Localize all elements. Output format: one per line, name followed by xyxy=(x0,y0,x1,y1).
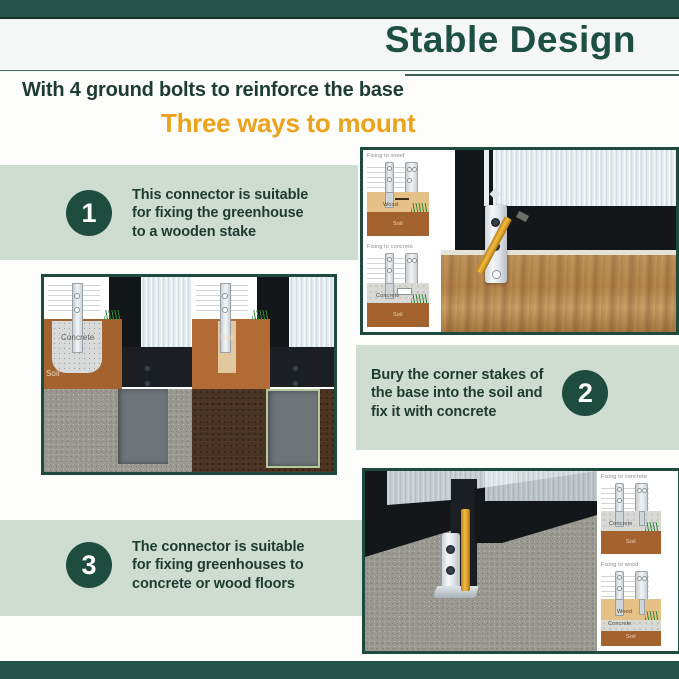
polycarbonate-panel xyxy=(288,277,334,349)
inset-title: Fixing to wood xyxy=(601,562,638,568)
fixing-arrow xyxy=(395,198,409,200)
frame-bolt xyxy=(292,380,299,387)
grass-icon xyxy=(411,203,427,212)
infographic-page: Stable Design With 4 ground bolts to rei… xyxy=(0,0,679,679)
grass-icon xyxy=(411,294,427,303)
layer-label-soil: Soil xyxy=(46,369,60,378)
frame-bolt xyxy=(144,365,151,372)
frame-edge-highlight xyxy=(484,150,489,206)
photo-panel-top: Fixing to wood Wood Soil Fixing to co xyxy=(360,147,679,335)
step-2: Bury the corner stakes of the base into … xyxy=(371,366,608,421)
step-text-3: The connector is suitable for fixing gre… xyxy=(132,538,304,593)
bolt-nut-upper xyxy=(446,545,455,554)
bracket-hole-glyph xyxy=(617,586,622,591)
metal-bracket xyxy=(442,533,460,589)
polycarbonate-panel xyxy=(140,277,192,349)
bracket-hole-glyph xyxy=(387,177,392,182)
photo-panel-bottom-scene: Fixing to concrete Concrete Soil Fixing … xyxy=(365,471,678,651)
bracket-hole-glyph xyxy=(642,488,647,493)
photo-panel-bottom: Fixing to concrete Concrete Soil Fixing … xyxy=(362,468,679,654)
bracket-hole-glyph xyxy=(617,575,622,580)
bracket-hole-glyph xyxy=(222,307,228,313)
layer-label-soil: Soil xyxy=(393,221,403,227)
inset-title: Fixing to concrete xyxy=(601,474,647,480)
buried-stake xyxy=(118,389,168,464)
scene-concrete-half: Concrete Soil xyxy=(44,277,192,472)
layer-label-soil: Soil xyxy=(626,539,636,545)
inset-fixing-to-wood: Fixing to wood Wood Concrete Soil xyxy=(597,559,672,651)
layer-label-concrete: Concrete xyxy=(376,293,400,299)
step-number-3: 3 xyxy=(66,542,112,588)
wooden-plank xyxy=(441,250,676,332)
step-number-2: 2 xyxy=(562,370,608,416)
inset-fixing-to-concrete: Fixing to concrete Concrete Soil xyxy=(363,241,441,332)
bracket-hole-glyph xyxy=(617,487,622,492)
step-1: 1 This connector is suitable for fixing … xyxy=(66,186,308,241)
inset-title: Fixing to wood xyxy=(367,153,404,159)
layer-label-concrete: Concrete xyxy=(61,333,94,342)
inset-fixing-to-wood: Fixing to wood Wood Soil xyxy=(363,150,441,241)
step-text-2: Bury the corner stakes of the base into … xyxy=(371,366,543,421)
bracket-hole-glyph xyxy=(74,307,80,313)
grass-icon xyxy=(645,611,659,620)
step-text-1: This connector is suitable for fixing th… xyxy=(132,186,308,241)
bracket-hole-glyph xyxy=(222,293,228,299)
step-number-1: 1 xyxy=(66,190,112,236)
scene-soil-half: Soil xyxy=(192,277,334,472)
grass-icon xyxy=(104,310,120,320)
plank-top-edge xyxy=(441,250,676,255)
inset-title: Fixing to concrete xyxy=(367,244,413,250)
bracket-hole-glyph xyxy=(407,178,412,183)
top-green-bar xyxy=(0,0,679,19)
bracket-hole-glyph xyxy=(412,258,417,263)
layer-label-wood: Wood xyxy=(383,202,398,208)
photo-panel-middle-scene: Concrete Soil Soil xyxy=(44,277,334,472)
bracket-hole-glyph xyxy=(387,166,392,171)
grass-icon xyxy=(645,522,659,531)
bracket-hole-glyph xyxy=(412,167,417,172)
page-tagline: Three ways to mount xyxy=(161,108,415,139)
page-subtitle: With 4 ground bolts to reinforce the bas… xyxy=(22,79,404,102)
frame-bolt xyxy=(144,380,151,387)
grass-icon xyxy=(252,310,268,320)
page-title: Stable Design xyxy=(385,21,636,58)
inset-fixing-to-concrete: Fixing to concrete Concrete Soil xyxy=(597,471,672,559)
buried-stake-highlight xyxy=(266,389,320,468)
layer-label-soil: Soil xyxy=(220,333,234,342)
bracket-hole-glyph xyxy=(387,268,392,273)
layer-label-concrete: Concrete xyxy=(608,621,632,627)
polycarbonate-panel-right xyxy=(485,471,597,501)
bracket-hole-glyph xyxy=(74,293,80,299)
header-divider-thick xyxy=(405,74,679,76)
polycarbonate-panel xyxy=(493,150,676,206)
header-divider-thin xyxy=(0,70,679,71)
photo-panel-middle: Concrete Soil Soil xyxy=(41,274,337,475)
layer-label-soil: Soil xyxy=(626,634,636,640)
bracket-hole-glyph xyxy=(642,576,647,581)
bolt-nut-lower xyxy=(446,566,455,575)
layer-label-soil: Soil xyxy=(393,312,403,318)
bracket-hole xyxy=(492,270,501,279)
layer-label-wood: Wood xyxy=(617,609,632,615)
ground-bolt xyxy=(461,509,470,591)
layer-label-concrete: Concrete xyxy=(609,521,633,527)
step-3: 3 The connector is suitable for fixing g… xyxy=(66,538,304,593)
base-plate xyxy=(433,586,479,598)
bottom-green-bar xyxy=(0,661,679,679)
frame-bolt xyxy=(292,365,299,372)
photo-panel-top-scene: Fixing to wood Wood Soil Fixing to co xyxy=(363,150,676,332)
bracket-hole-glyph xyxy=(387,257,392,262)
bracket-hole-glyph xyxy=(617,498,622,503)
